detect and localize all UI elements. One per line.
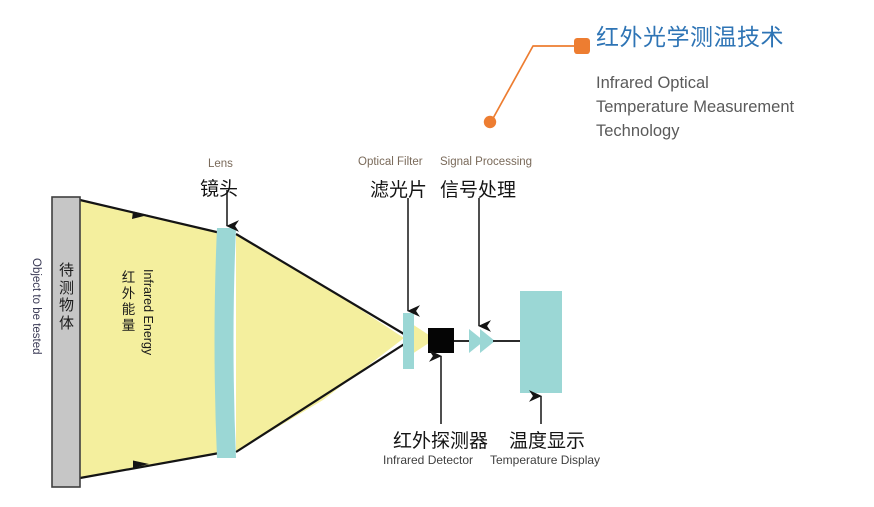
callout-square <box>574 38 590 54</box>
signal-processing-label-cn: 信号处理 <box>440 175 516 202</box>
optical-filter-label-cn: 滤光片 <box>370 175 427 202</box>
lens-element <box>215 228 237 458</box>
object-label-en: Object to be tested <box>30 258 42 355</box>
infrared-detector-label-cn: 红外探测器 <box>393 426 488 453</box>
energy-label-en: Infrared Energy <box>141 269 155 355</box>
temperature-display-label-en: Temperature Display <box>490 453 600 467</box>
optical-filter-label-en: Optical Filter <box>358 156 423 168</box>
energy-label-cn: 红 外 能 量 <box>120 271 138 335</box>
object-label-cn: 待 测 物 体 <box>57 262 77 333</box>
callout-title-cn: 红外光学测温技术 <box>596 24 784 52</box>
callout-subtitle-en: Infrared Optical Temperature Measurement… <box>596 72 864 144</box>
callout-subtitle-line3: Technology <box>596 120 864 144</box>
temperature-display-element <box>520 291 562 393</box>
diagram-canvas: 红外光学测温技术 Infrared Optical Temperature Me… <box>0 0 874 507</box>
lens-label-cn: 镜头 <box>200 174 238 201</box>
optical-filter-element <box>403 313 414 369</box>
lens-label-en: Lens <box>208 158 233 170</box>
temperature-display-label-cn: 温度显示 <box>509 426 585 453</box>
infrared-energy-cone-right <box>236 234 409 452</box>
callout-dot <box>484 116 496 128</box>
object-under-test <box>52 197 80 487</box>
callout-subtitle-line2: Temperature Measurement <box>596 96 864 120</box>
callout-subtitle-line1: Infrared Optical <box>596 72 864 96</box>
signal-processing-label-en: Signal Processing <box>440 156 532 168</box>
infrared-detector-element <box>428 328 454 353</box>
callout-connector <box>484 38 590 128</box>
signal-processing-element <box>469 329 495 353</box>
infrared-detector-label-en: Infrared Detector <box>383 453 473 467</box>
